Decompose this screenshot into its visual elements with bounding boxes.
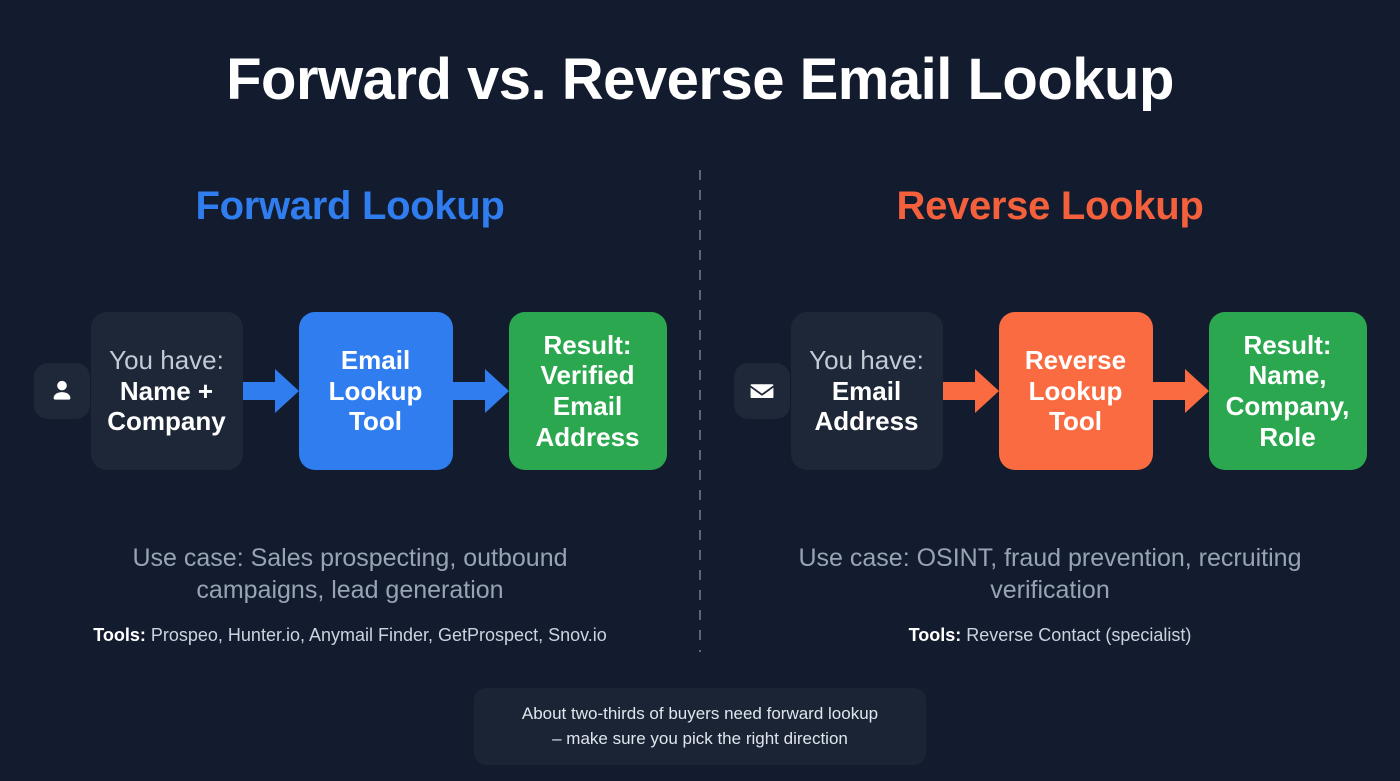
node-result-line-1: Result: xyxy=(1243,330,1331,361)
node-tool-line-3: Tool xyxy=(349,406,402,437)
person-icon xyxy=(48,377,76,405)
tools-reverse: Tools: Reverse Contact (specialist) xyxy=(720,625,1380,646)
tools-value: Prospeo, Hunter.io, Anymail Finder, GetP… xyxy=(151,625,607,645)
person-icon-tile xyxy=(34,363,90,419)
node-tool-forward: Email Lookup Tool xyxy=(299,312,453,470)
arrow-right-icon xyxy=(453,369,509,413)
node-input-value-line-1: Name + xyxy=(120,376,213,407)
node-result-line-2: Verified xyxy=(541,360,635,391)
column-heading-forward: Forward Lookup xyxy=(195,184,504,229)
usecase-forward: Use case: Sales prospecting, outbound ca… xyxy=(70,543,630,606)
node-tool-line-1: Email xyxy=(341,345,410,376)
envelope-icon-tile xyxy=(734,363,790,419)
node-result-reverse: Result: Name, Company, Role xyxy=(1209,312,1367,470)
envelope-icon xyxy=(748,377,776,405)
node-result-line-3: Email xyxy=(553,391,622,422)
footnote-line-1: About two-thirds of buyers need forward … xyxy=(494,702,906,727)
node-result-line-4: Address xyxy=(535,422,639,453)
tools-value: Reverse Contact (specialist) xyxy=(966,625,1191,645)
page-title: Forward vs. Reverse Email Lookup xyxy=(0,48,1400,113)
node-input-value-line-2: Company xyxy=(107,406,225,437)
column-reverse: Reverse Lookup You have: Email Address xyxy=(700,170,1400,660)
node-tool-line-3: Tool xyxy=(1049,406,1102,437)
node-tool-line-2: Lookup xyxy=(329,376,423,407)
comparison-columns: Forward Lookup You have: Name + Company xyxy=(0,170,1400,660)
arrow-right-icon xyxy=(243,369,299,413)
node-tool-reverse: Reverse Lookup Tool xyxy=(999,312,1153,470)
node-input-value-line-2: Address xyxy=(814,406,918,437)
column-forward: Forward Lookup You have: Name + Company xyxy=(0,170,700,660)
node-input-label: You have: xyxy=(109,345,224,376)
flow-reverse: You have: Email Address Reverse Lookup T… xyxy=(700,311,1400,471)
arrow-right-icon xyxy=(943,369,999,413)
node-result-forward: Result: Verified Email Address xyxy=(509,312,667,470)
column-heading-reverse: Reverse Lookup xyxy=(896,184,1203,229)
node-tool-line-2: Lookup xyxy=(1029,376,1123,407)
footnote-callout: About two-thirds of buyers need forward … xyxy=(474,688,926,765)
node-input-value-line-1: Email xyxy=(832,376,901,407)
flow-forward: You have: Name + Company Email Lookup To… xyxy=(0,311,700,471)
node-result-line-3: Company, xyxy=(1226,391,1350,422)
arrow-right-icon xyxy=(1153,369,1209,413)
node-result-line-1: Result: xyxy=(543,330,631,361)
node-input-forward: You have: Name + Company xyxy=(91,312,243,470)
node-input-reverse: You have: Email Address xyxy=(791,312,943,470)
tools-label: Tools: xyxy=(909,625,962,645)
tools-forward: Tools: Prospeo, Hunter.io, Anymail Finde… xyxy=(20,625,680,646)
node-result-line-2: Name, xyxy=(1248,360,1326,391)
tools-label: Tools: xyxy=(93,625,146,645)
node-result-line-4: Role xyxy=(1259,422,1315,453)
node-tool-line-1: Reverse xyxy=(1025,345,1126,376)
usecase-reverse: Use case: OSINT, fraud prevention, recru… xyxy=(770,543,1330,606)
node-input-label: You have: xyxy=(809,345,924,376)
footnote-line-2: – make sure you pick the right direction xyxy=(494,727,906,752)
